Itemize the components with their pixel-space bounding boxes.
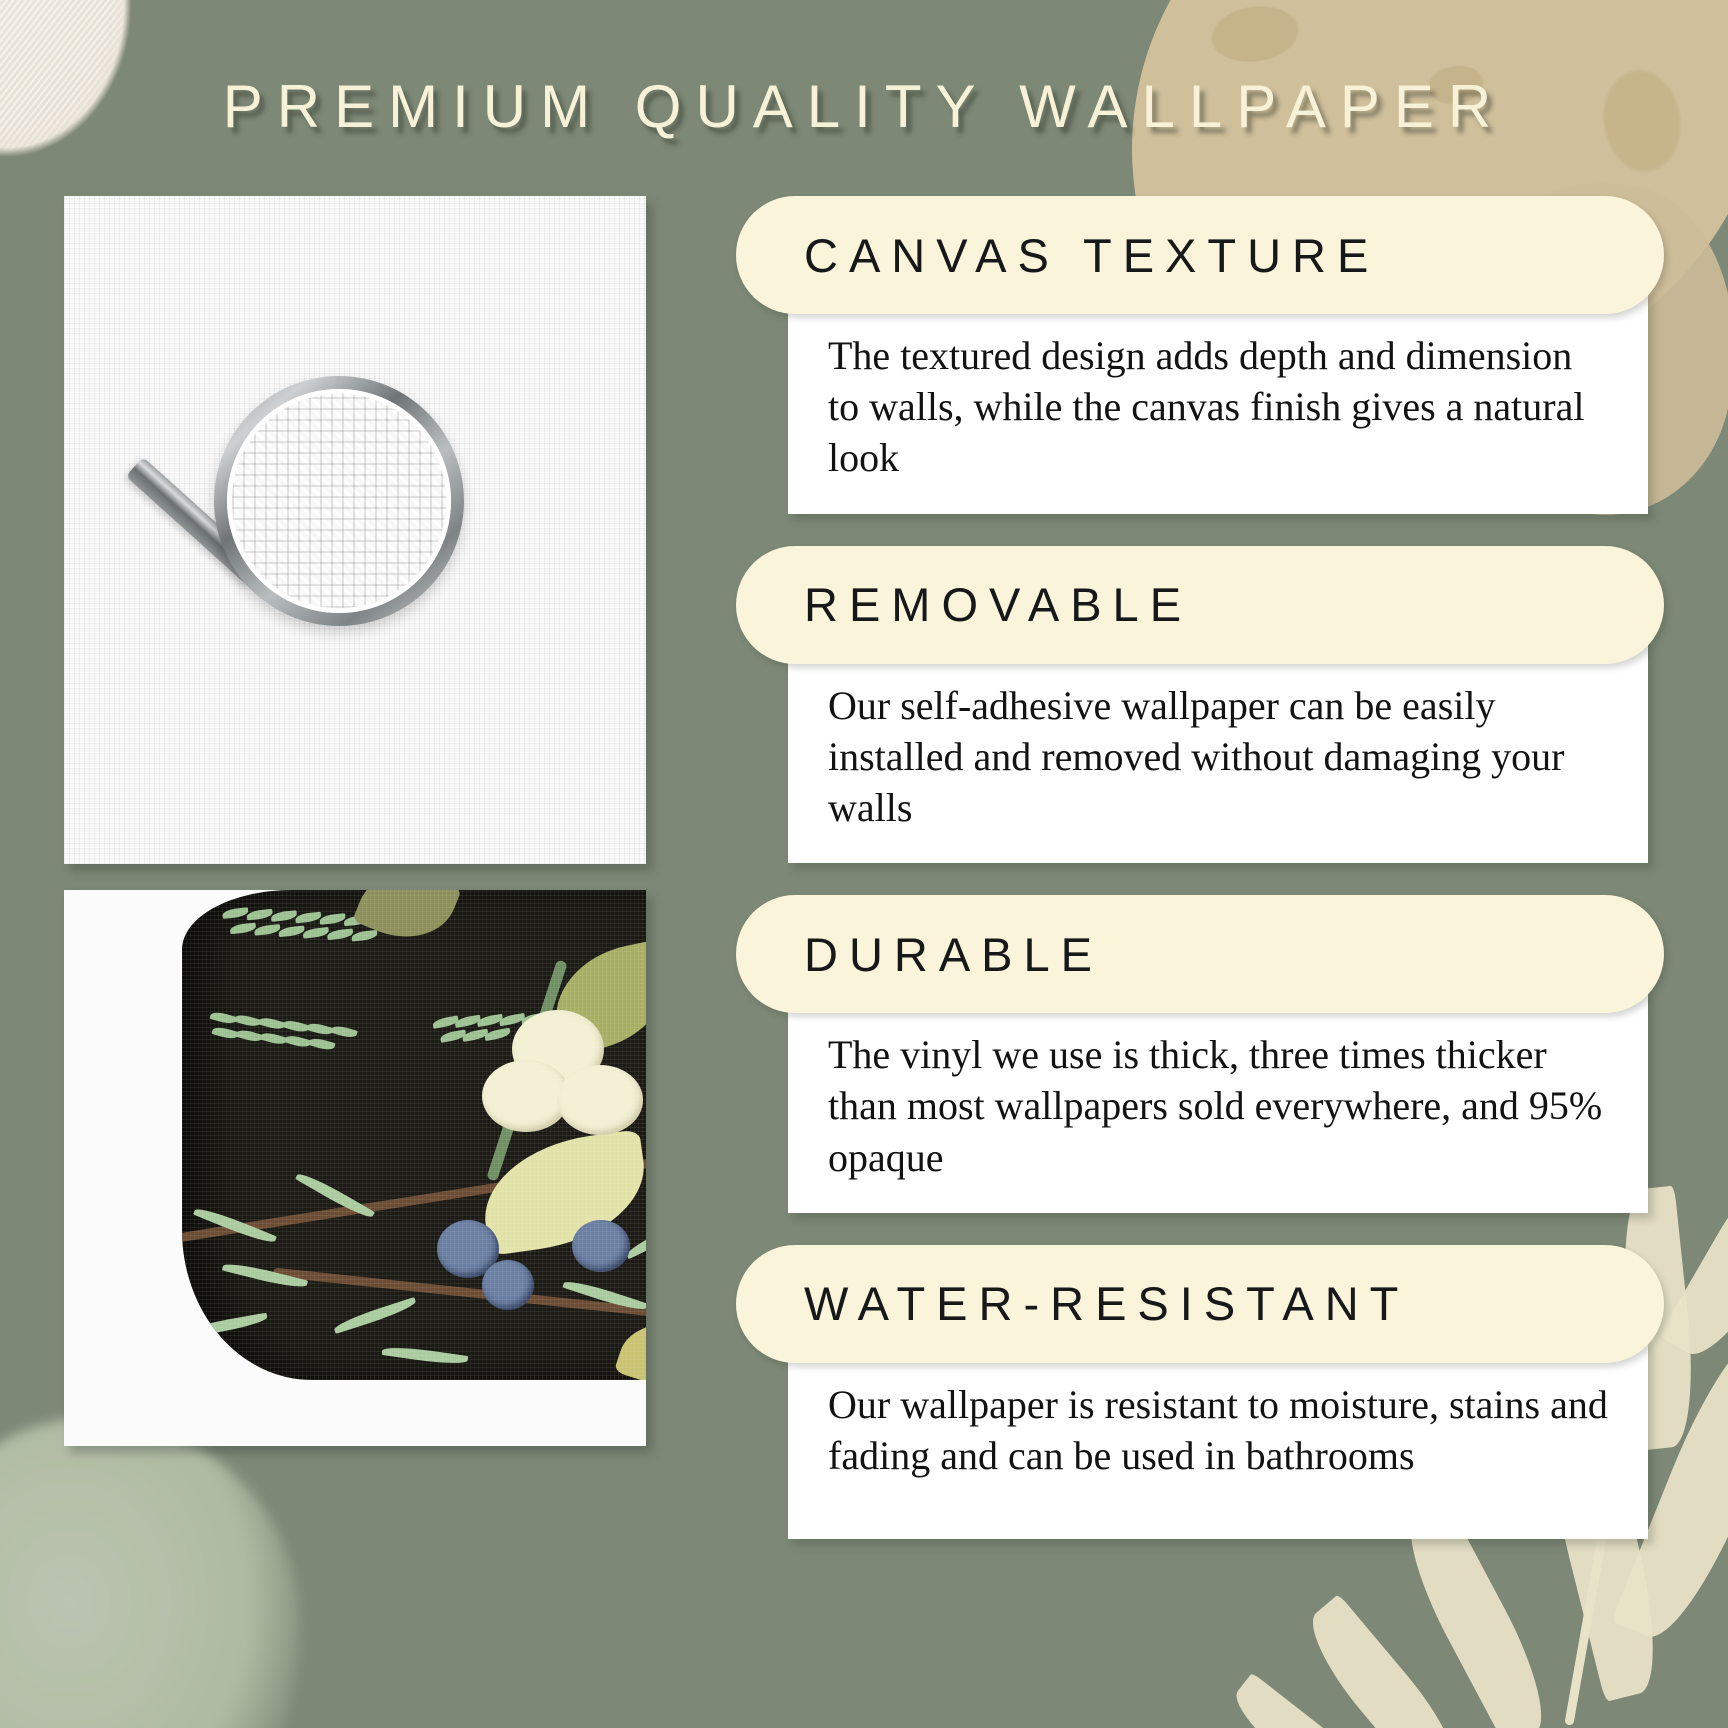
page-title: PREMIUM QUALITY WALLPAPER: [0, 72, 1728, 141]
print-leaf: [543, 939, 646, 1057]
leaf-shape-decoration: [1659, 1137, 1728, 1369]
print-needle-leaf: [332, 1297, 417, 1334]
print-berry-blue: [572, 1220, 630, 1272]
print-branch: [182, 1146, 646, 1242]
feature-body-panel: Our self-adhesive wallpaper can be easil…: [788, 642, 1648, 864]
feature-heading-label: WATER-RESISTANT: [804, 1276, 1409, 1331]
feature-heading-pill: REMOVABLE: [736, 546, 1664, 664]
print-needle-leaf: [382, 1344, 469, 1367]
print-needle-leaf: [512, 1180, 598, 1211]
feature-body-text: The vinyl we use is thick, three times t…: [828, 1029, 1608, 1183]
print-stem: [486, 959, 568, 1181]
print-berry-blue: [482, 1260, 534, 1310]
print-leaf: [614, 1305, 646, 1380]
feature-heading-label: DURABLE: [804, 927, 1103, 982]
print-needle-leaf: [222, 1260, 308, 1291]
magnified-weave-texture: [232, 394, 446, 608]
print-branch: [273, 1268, 646, 1322]
print-berry: [482, 1060, 570, 1132]
print-needle-leaf: [562, 1277, 646, 1314]
feature-list: CANVAS TEXTURE The textured design adds …: [736, 196, 1648, 1571]
feature-item-removable: REMOVABLE Our self-adhesive wallpaper ca…: [736, 546, 1648, 864]
print-berry: [557, 1065, 643, 1135]
print-needle-leaf: [295, 1169, 375, 1222]
magnifier-lens-inner: [232, 394, 446, 608]
feature-item-water-resistant: WATER-RESISTANT Our wallpaper is resista…: [736, 1245, 1648, 1539]
green-blob-decoration: [0, 1418, 300, 1728]
wallpaper-roll-photo: [64, 890, 646, 1446]
feature-body-text: The textured design adds depth and dimen…: [828, 330, 1608, 484]
feature-heading-label: CANVAS TEXTURE: [804, 228, 1379, 283]
print-leaf: [352, 890, 462, 954]
feature-item-canvas-texture: CANVAS TEXTURE The textured design adds …: [736, 196, 1648, 514]
botanical-print-pattern: [182, 890, 646, 1380]
feature-heading-label: REMOVABLE: [804, 577, 1192, 632]
feature-heading-pill: DURABLE: [736, 895, 1664, 1013]
feature-heading-pill: WATER-RESISTANT: [736, 1245, 1664, 1363]
print-needle-leaf: [624, 1212, 646, 1260]
magnifier-lens: [214, 376, 464, 626]
print-berry-blue: [437, 1220, 499, 1278]
print-needle-leaf: [182, 1313, 268, 1339]
leaf-shape-decoration: [1224, 1673, 1386, 1728]
print-leaf: [475, 1129, 646, 1256]
feature-item-durable: DURABLE The vinyl we use is thick, three…: [736, 895, 1648, 1213]
canvas-texture-photo: [64, 196, 646, 864]
print-needle-leaf: [193, 1204, 277, 1246]
magnifier-icon: [214, 376, 464, 626]
feature-body-text: Our wallpaper is resistant to moisture, …: [828, 1379, 1608, 1481]
leaf-shape-decoration: [1294, 1594, 1473, 1728]
feature-body-panel: Our wallpaper is resistant to moisture, …: [788, 1341, 1648, 1539]
feature-body-panel: The vinyl we use is thick, three times t…: [788, 991, 1648, 1213]
feature-heading-pill: CANVAS TEXTURE: [736, 196, 1664, 314]
feature-body-text: Our self-adhesive wallpaper can be easil…: [828, 680, 1608, 834]
print-needle-leaf: [443, 1243, 526, 1288]
print-berry: [512, 1010, 604, 1088]
feature-body-panel: The textured design adds depth and dimen…: [788, 292, 1648, 514]
rolled-wallpaper-sample: [182, 890, 646, 1380]
